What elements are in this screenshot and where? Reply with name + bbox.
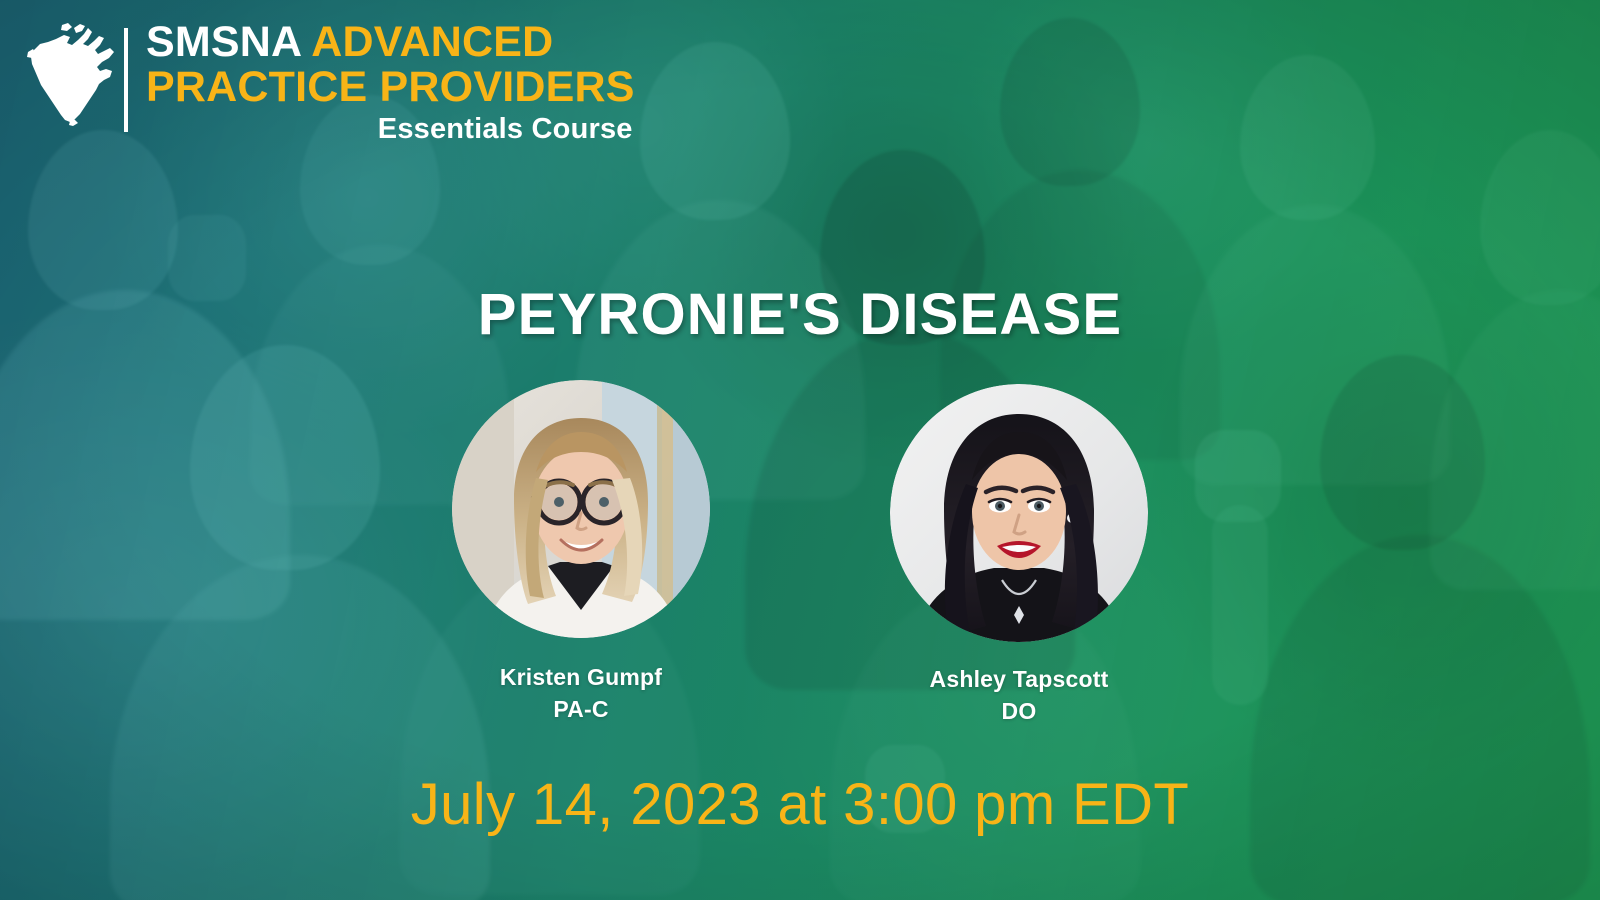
avatar-illustration [890, 384, 1148, 642]
avatar-illustration [452, 380, 710, 638]
logo-smsna-text: SMSNA [146, 18, 301, 66]
speaker-card-kristen-gumpf: Kristen Gumpf PA-C [452, 380, 710, 725]
speaker-photo-ashley-tapscott [890, 384, 1148, 642]
speaker-photo-kristen-gumpf [452, 380, 710, 638]
speaker-name: Ashley Tapscott [890, 666, 1148, 693]
event-datetime: July 14, 2023 at 3:00 pm EDT [0, 771, 1600, 838]
logo-wordmark: SMSNA ADVANCED PRACTICE PROVIDERS Essent… [146, 16, 635, 146]
logo-advanced-text: ADVANCED [311, 18, 553, 66]
logo-divider [124, 28, 128, 132]
speaker-credential: PA-C [452, 696, 710, 723]
logo-subtitle: Essentials Course [146, 113, 635, 146]
smsna-logo: SMSNA ADVANCED PRACTICE PROVIDERS Essent… [26, 16, 635, 146]
speakers-row: Kristen Gumpf PA-C [0, 380, 1600, 725]
page-title: PEYRONIE'S DISEASE [0, 281, 1600, 348]
webinar-promo-graphic: SMSNA ADVANCED PRACTICE PROVIDERS Essent… [0, 0, 1600, 900]
speaker-card-ashley-tapscott: Ashley Tapscott DO [890, 380, 1148, 725]
logo-line-1: SMSNA ADVANCED [146, 20, 635, 65]
north-america-map-icon [26, 22, 118, 126]
logo-line-2: PRACTICE PROVIDERS [146, 65, 635, 110]
speaker-name: Kristen Gumpf [452, 664, 710, 691]
speaker-credential: DO [890, 698, 1148, 725]
